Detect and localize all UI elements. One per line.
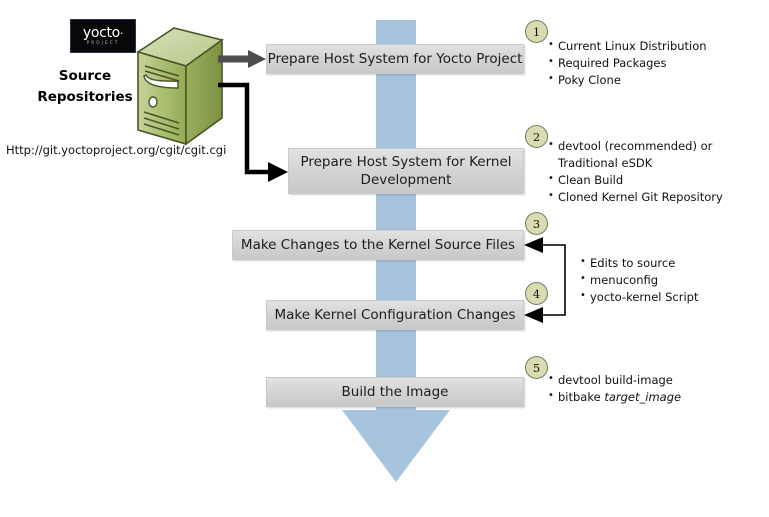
step-box-label: Prepare Host System for Yocto Project (268, 50, 523, 68)
step-box-label: Prepare Host System for Kernel Developme… (289, 153, 523, 189)
server-tower-icon (134, 26, 226, 148)
step-box-make-source-changes[interactable]: Make Changes to the Kernel Source Files (232, 230, 524, 260)
yocto-logo-subtext: PROJECT (87, 41, 120, 45)
list-item: Cloned Kernel Git Repository (558, 189, 761, 206)
connector-server-to-step2 (218, 85, 288, 182)
source-repositories-label: Source Repositories (30, 66, 140, 108)
list-item: menuconfig (590, 272, 768, 289)
step-box-prepare-host-yocto[interactable]: Prepare Host System for Yocto Project (266, 44, 524, 74)
source-label-line1: Source (30, 66, 140, 87)
bitbake-target-placeholder: target_image (604, 390, 681, 404)
list-item: Edits to source (590, 255, 768, 272)
step-box-prepare-host-kernel[interactable]: Prepare Host System for Kernel Developme… (288, 148, 524, 194)
list-item: devtool (recommended) or Traditional eSD… (558, 138, 761, 172)
list-item: Required Packages (558, 55, 761, 72)
step-box-label: Make Changes to the Kernel Source Files (241, 236, 515, 254)
yocto-logo-text: yocto (83, 25, 120, 41)
step-number-text: 5 (533, 361, 540, 375)
list-item: Poky Clone (558, 72, 761, 89)
list-item: Current Linux Distribution (558, 38, 761, 55)
list-item: bitbake target_image (558, 389, 761, 406)
step-number-text: 1 (533, 25, 540, 39)
step-number-badge-5: 5 (525, 356, 548, 379)
step-box-make-config-changes[interactable]: Make Kernel Configuration Changes (266, 300, 524, 330)
source-label-line2: Repositories (30, 87, 140, 108)
step-5-bullet-list: devtool build-image bitbake target_image (546, 372, 761, 406)
list-item: Clean Build (558, 172, 761, 189)
step-1-bullet-list: Current Linux Distribution Required Pack… (546, 38, 761, 89)
yocto-project-logo: yocto· PROJECT (70, 19, 136, 53)
source-repository-url: Http://git.yoctoproject.org/cgit/cgit.cg… (6, 143, 226, 157)
yocto-logo-dot: · (120, 27, 123, 40)
step-number-badge-4: 4 (525, 282, 548, 305)
step-number-badge-3: 3 (525, 212, 548, 235)
step-number-badge-2: 2 (525, 125, 548, 148)
step-number-text: 2 (533, 130, 540, 144)
step-box-label: Build the Image (342, 383, 449, 401)
step-2-bullet-list: devtool (recommended) or Traditional eSD… (546, 138, 761, 206)
step-box-label: Make Kernel Configuration Changes (274, 306, 515, 324)
step-number-text: 4 (533, 287, 540, 301)
step-box-build-image[interactable]: Build the Image (266, 377, 524, 407)
list-item: devtool build-image (558, 372, 761, 389)
step-number-badge-1: 1 (525, 20, 548, 43)
list-item: yocto-kernel Script (590, 289, 768, 306)
yocto-logo-wordmark: yocto· (83, 26, 123, 40)
diagram-canvas: yocto· PROJECT (0, 0, 769, 517)
step-number-text: 3 (533, 217, 540, 231)
steps-3-4-bullet-list: Edits to source menuconfig yocto-kernel … (578, 255, 768, 306)
connector-steps-3-4-bracket (524, 237, 565, 323)
bitbake-command-prefix: bitbake (558, 390, 604, 404)
